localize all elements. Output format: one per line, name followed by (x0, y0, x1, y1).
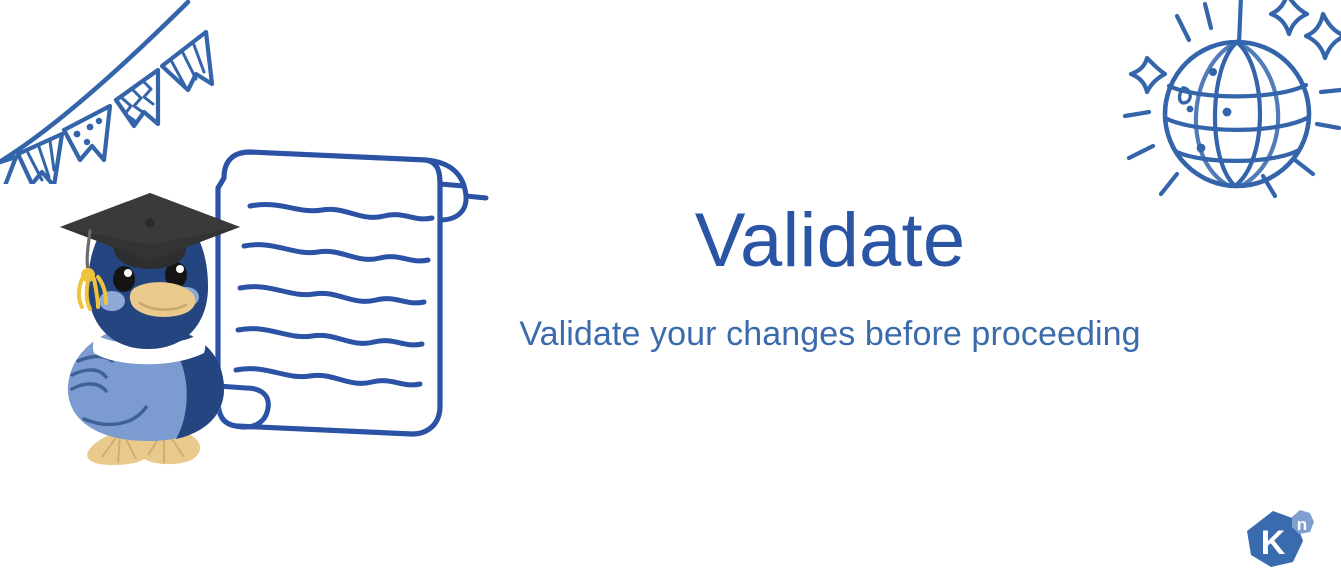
bird-mascot (48, 183, 248, 473)
killercoda-logo-icon: K n (1241, 505, 1321, 577)
bird-cheek-left (99, 291, 125, 311)
page-subtitle: Validate your changes before proceeding (330, 314, 1330, 355)
logo-secondary-letter: n (1297, 515, 1307, 534)
page-title: Validate (330, 200, 1330, 282)
graduate-bird-icon (48, 183, 248, 473)
killercoda-logo[interactable]: K n (1241, 505, 1321, 577)
headline-block: Validate Validate your changes before pr… (330, 200, 1330, 355)
slide-canvas: Validate Validate your changes before pr… (0, 0, 1341, 585)
disco-ball-icon (1117, 0, 1341, 223)
discoball-decoration (1117, 0, 1341, 223)
logo-primary-letter: K (1261, 524, 1286, 562)
